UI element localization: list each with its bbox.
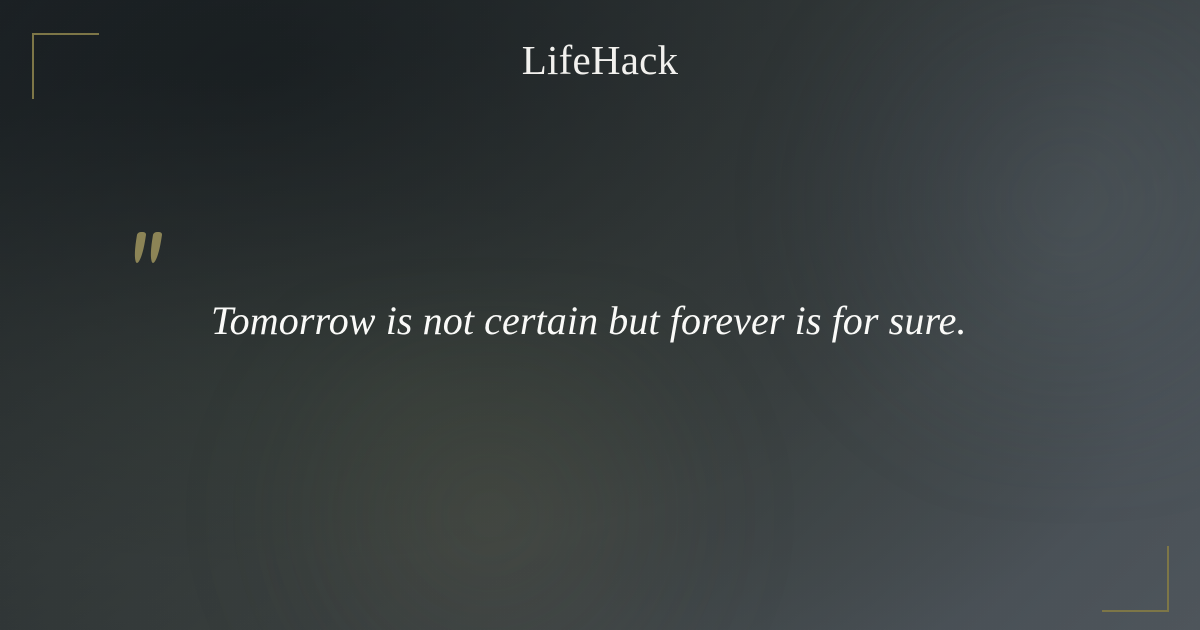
corner-bracket-top-left-horizontal-line bbox=[32, 33, 99, 35]
quotation-mark-stroke-left bbox=[133, 232, 147, 263]
quotation-mark-icon bbox=[133, 222, 173, 268]
corner-bracket-bottom-right-icon bbox=[1102, 546, 1169, 612]
corner-bracket-bottom-right-vertical-line bbox=[1167, 546, 1169, 612]
quotation-mark-stroke-right bbox=[149, 232, 163, 263]
quote-text: Tomorrow is not certain but forever is f… bbox=[211, 296, 1111, 346]
corner-bracket-bottom-right-horizontal-line bbox=[1102, 610, 1169, 612]
quote-card: LifeHack Tomorrow is not certain but for… bbox=[0, 0, 1200, 630]
brand-logo: LifeHack bbox=[0, 40, 1200, 81]
